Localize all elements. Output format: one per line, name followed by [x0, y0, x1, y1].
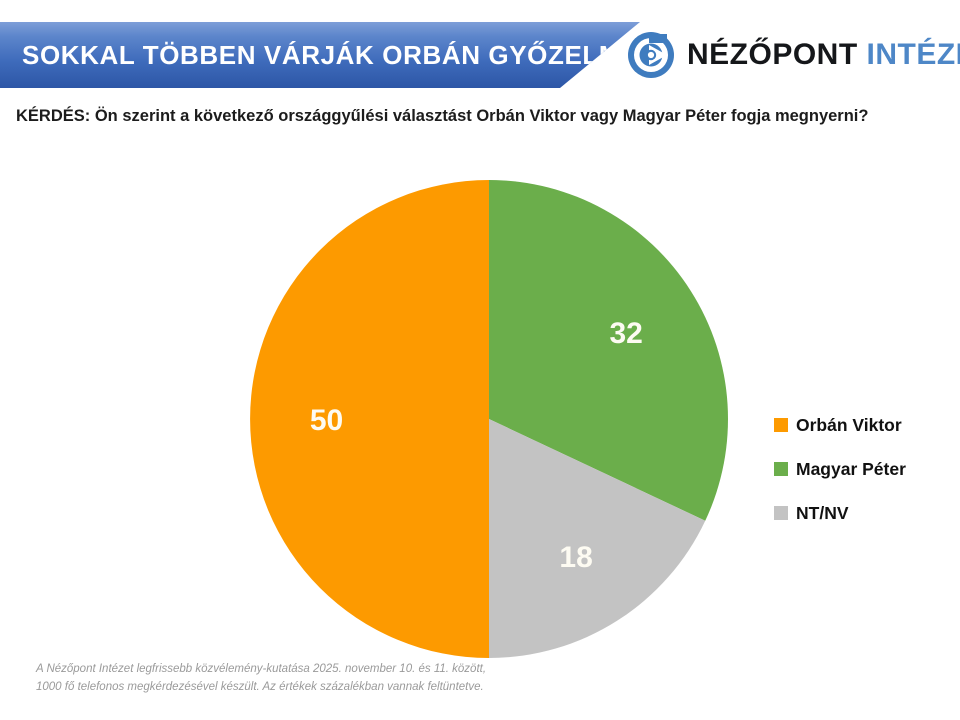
legend-item[interactable]: Orbán Viktor [774, 403, 954, 447]
legend-item[interactable]: Magyar Péter [774, 447, 954, 491]
pie-chart: 321850 [0, 160, 760, 640]
footnote-line-1: A Nézőpont Intézet legfrissebb közvélemé… [36, 661, 676, 679]
title-banner: SOKKAL TÖBBEN VÁRJÁK ORBÁN GYŐZELMÉT [0, 22, 640, 88]
legend-item-label: Magyar Péter [796, 459, 906, 480]
logo-word-secondary: INTÉZET [867, 38, 960, 71]
brand-logo: NÉZŐPONT INTÉZET [627, 29, 960, 81]
pie-slice-value: 50 [310, 404, 343, 437]
footnote-line-2: 1000 fő telefonos megkérdezésével készül… [36, 679, 676, 697]
logo-word-primary: NÉZŐPONT [687, 38, 858, 71]
legend-item-label: NT/NV [796, 503, 849, 524]
target-eye-icon [627, 31, 675, 79]
pie-slice-value: 32 [610, 317, 643, 350]
legend-item[interactable]: NT/NV [774, 491, 954, 535]
legend-swatch [774, 462, 788, 476]
legend-swatch [774, 506, 788, 520]
chart-legend: Orbán ViktorMagyar PéterNT/NV [774, 403, 954, 535]
pie-slice [250, 180, 489, 658]
page-title: SOKKAL TÖBBEN VÁRJÁK ORBÁN GYŐZELMÉT [0, 40, 656, 71]
legend-swatch [774, 418, 788, 432]
survey-question: KÉRDÉS: Ön szerint a következő országgyű… [16, 107, 946, 126]
legend-item-label: Orbán Viktor [796, 415, 902, 436]
pie-slice-value: 18 [559, 541, 592, 574]
page-header: SOKKAL TÖBBEN VÁRJÁK ORBÁN GYŐZELMÉT NÉZ… [0, 0, 960, 100]
pie-chart-svg: 321850 [249, 179, 729, 659]
footnote: A Nézőpont Intézet legfrissebb közvélemé… [36, 661, 676, 697]
logo-wordmark: NÉZŐPONT INTÉZET [687, 40, 960, 70]
